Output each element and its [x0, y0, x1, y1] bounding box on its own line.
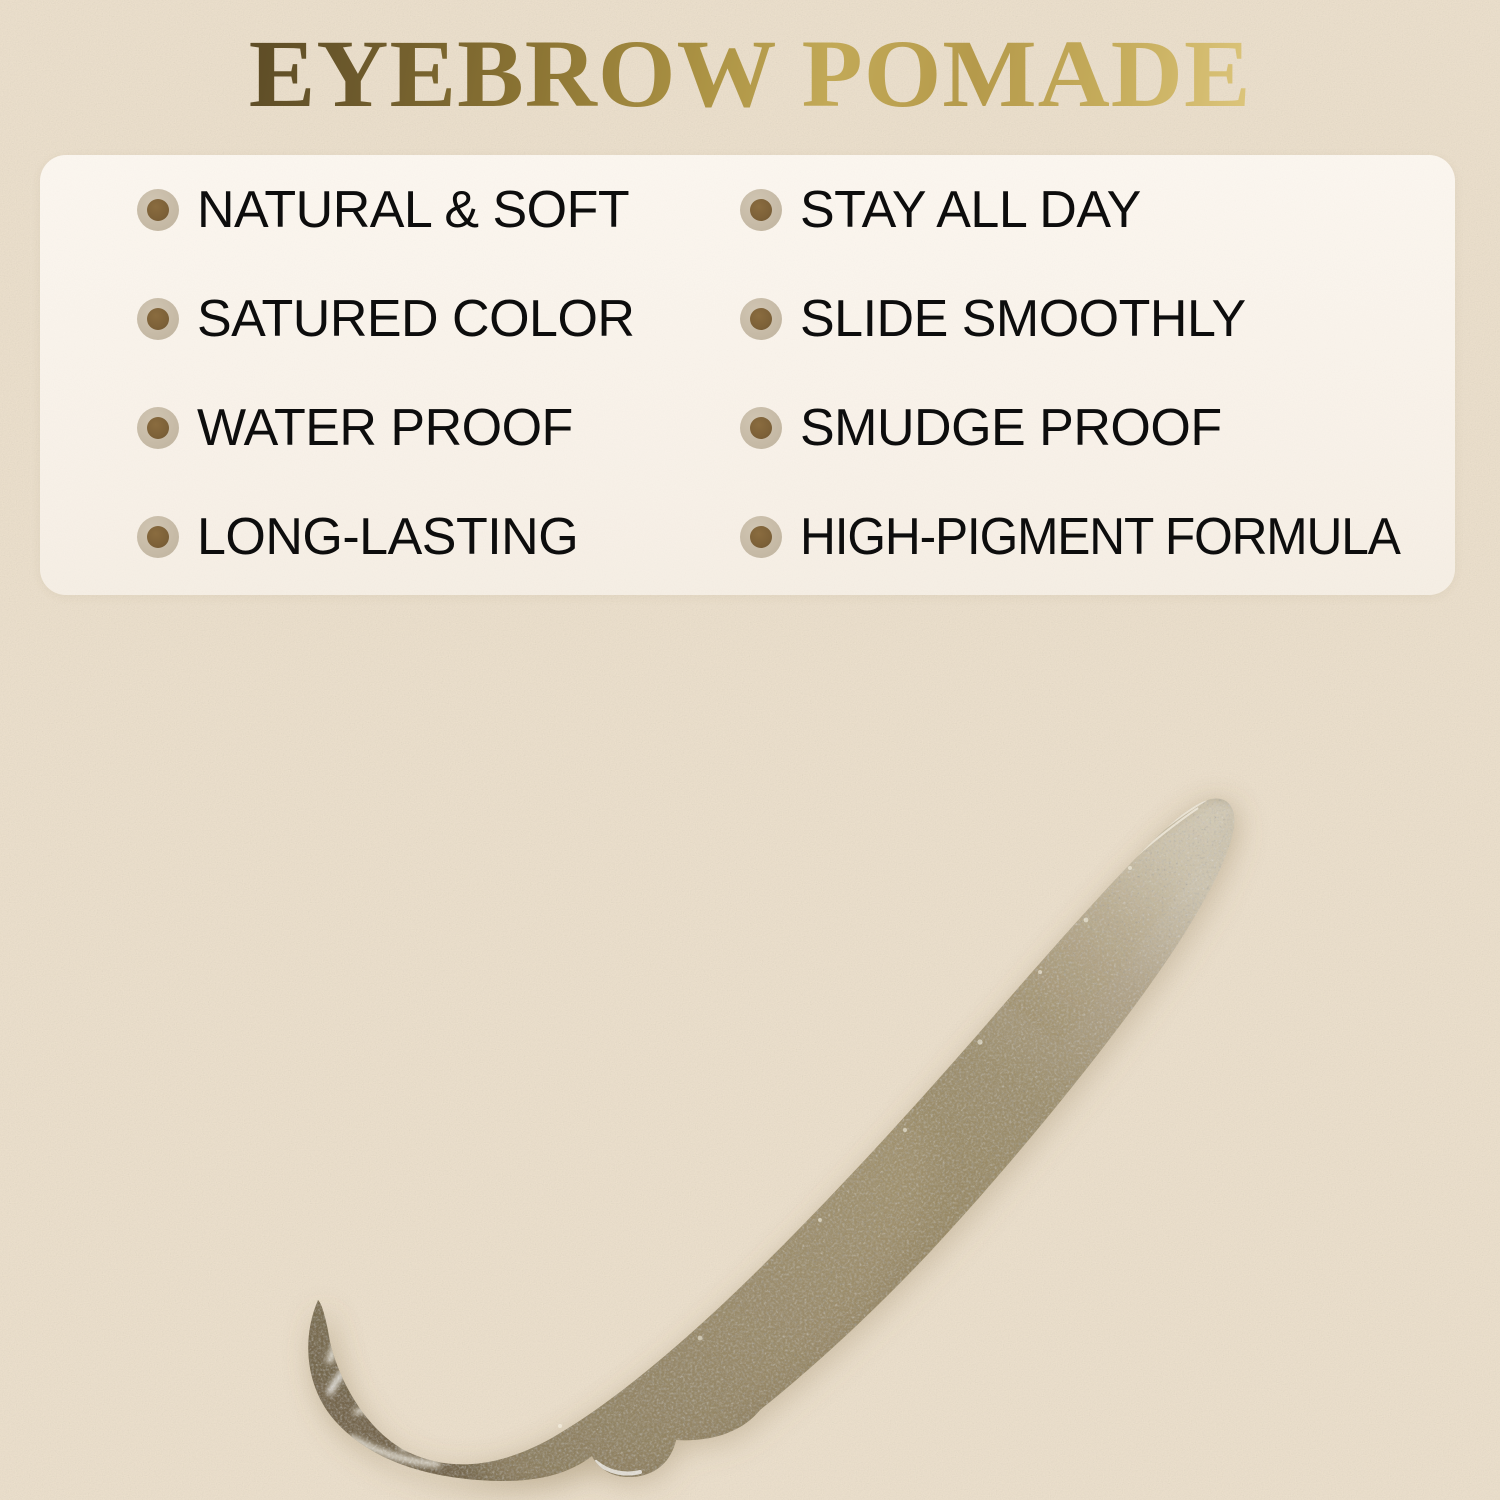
feature-item-water-proof[interactable]: WATER PROOF: [40, 373, 740, 482]
bullet-dot-icon: [740, 298, 782, 340]
pomade-smear-swatch: [0, 600, 1500, 1500]
feature-item-label: LONG-LASTING: [197, 511, 578, 563]
bullet-dot-icon: [740, 189, 782, 231]
feature-list-card: NATURAL & SOFT STAY ALL DAY SATURED COLO…: [40, 155, 1455, 595]
swatch-grain: [280, 760, 1260, 1500]
feature-item-smudge-proof[interactable]: SMUDGE PROOF: [740, 373, 1455, 482]
bullet-dot-icon: [740, 516, 782, 558]
bullet-dot-icon: [137, 189, 179, 231]
feature-item-satured-color[interactable]: SATURED COLOR: [40, 264, 740, 373]
feature-item-label: SMUDGE PROOF: [800, 402, 1222, 454]
feature-item-label: SLIDE SMOOTHLY: [800, 293, 1246, 345]
feature-item-high-pigment-formula[interactable]: HIGH-PIGMENT FORMULA: [740, 482, 1455, 591]
feature-item-stay-all-day[interactable]: STAY ALL DAY: [740, 155, 1455, 264]
product-swatch-container: [0, 600, 1500, 1500]
product-image-canvas: EYEBROW POMADE NATURAL & SOFT STAY ALL: [0, 0, 1500, 1500]
swatch-edge-sparkle: [558, 866, 1132, 1428]
page-title: EYEBROW POMADE: [249, 26, 1252, 122]
page-title-container: EYEBROW POMADE: [0, 26, 1500, 122]
bullet-dot-icon: [137, 298, 179, 340]
feature-item-long-lasting[interactable]: LONG-LASTING: [40, 482, 740, 591]
feature-item-label: STAY ALL DAY: [800, 184, 1141, 236]
feature-item-natural-soft[interactable]: NATURAL & SOFT: [40, 155, 740, 264]
bullet-dot-icon: [137, 407, 179, 449]
feature-item-label: SATURED COLOR: [197, 293, 634, 345]
feature-item-label: NATURAL & SOFT: [197, 184, 629, 236]
feature-item-label: WATER PROOF: [197, 402, 573, 454]
feature-item-slide-smoothly[interactable]: SLIDE SMOOTHLY: [740, 264, 1455, 373]
feature-list: NATURAL & SOFT STAY ALL DAY SATURED COLO…: [40, 155, 1455, 595]
bullet-dot-icon: [740, 407, 782, 449]
bullet-dot-icon: [137, 516, 179, 558]
feature-item-label: HIGH-PIGMENT FORMULA: [800, 511, 1400, 563]
